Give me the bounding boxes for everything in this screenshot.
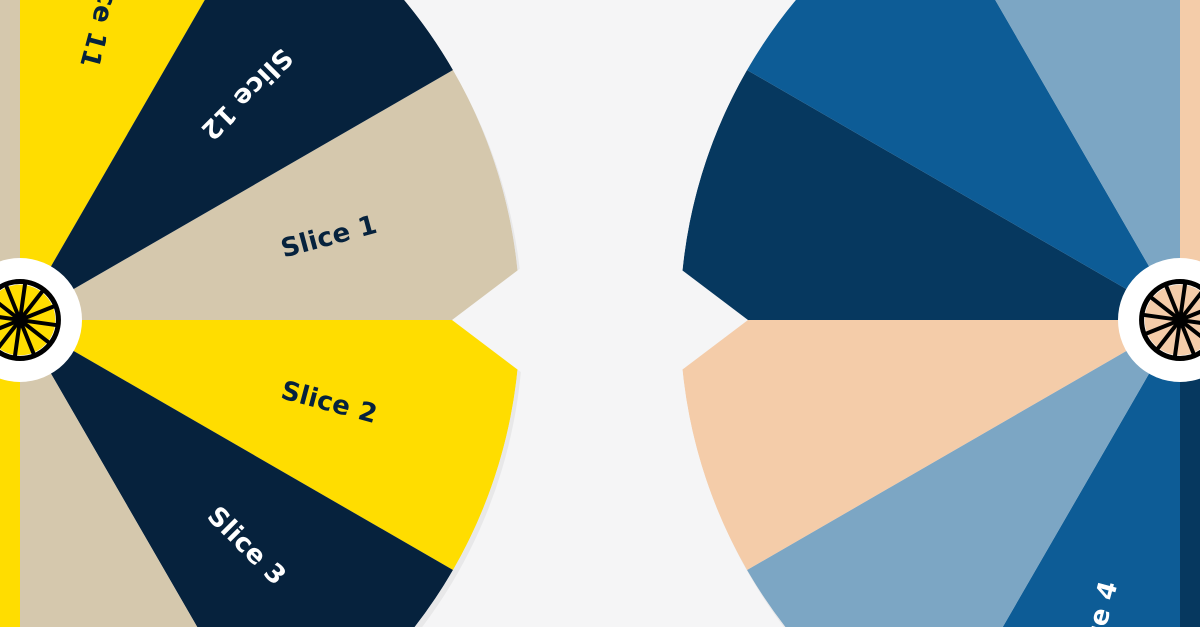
wheel-citrus-icon [1142, 282, 1200, 359]
wheel-citrus-icon [0, 282, 58, 359]
wheel-citrus-icon-center [1176, 316, 1185, 325]
spinner-wheels-stage: Slice 1Slice 2Slice 3Slice 11Slice 12Sli… [0, 0, 1200, 627]
spinner-wheels-canvas[interactable]: Slice 1Slice 2Slice 3Slice 11Slice 12Sli… [0, 0, 1200, 627]
wheel-citrus-icon-center [16, 316, 25, 325]
right-spinner-wheel[interactable]: Slice 3Slice 4 [666, 0, 1200, 627]
left-spinner-wheel[interactable]: Slice 1Slice 2Slice 3Slice 11Slice 12 [0, 0, 534, 627]
